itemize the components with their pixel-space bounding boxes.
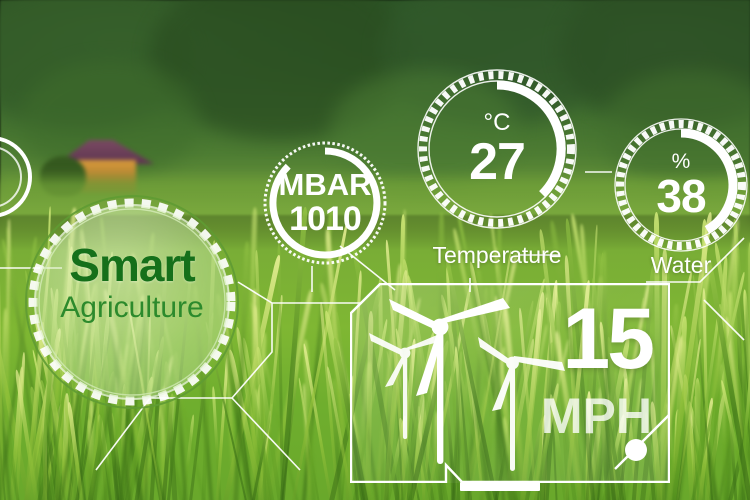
wind-turbine-icon bbox=[369, 333, 442, 439]
brand-badge[interactable]: Smart Agriculture bbox=[22, 192, 242, 412]
gauge-water[interactable]: % 38 bbox=[612, 116, 750, 254]
hud-overlay: Smart Agriculture MBAR 1010 bbox=[0, 0, 750, 500]
gauge-pressure[interactable]: MBAR 1010 bbox=[262, 140, 388, 266]
gauge-water-ring bbox=[612, 116, 750, 254]
brand-line2: Agriculture bbox=[22, 291, 242, 326]
gauge-pressure-ring bbox=[262, 140, 388, 266]
wind-panel-foot-bar bbox=[460, 482, 540, 491]
gauge-water-caption: Water bbox=[612, 252, 750, 279]
gauge-temperature-caption: Temperature bbox=[414, 242, 580, 269]
wind-speed-unit: MPH bbox=[541, 391, 652, 441]
gauge-temperature[interactable]: °C 27 bbox=[414, 66, 580, 232]
gauge-temperature-ring bbox=[414, 66, 580, 232]
wind-speed-panel[interactable]: 15 MPH bbox=[350, 283, 670, 483]
brand-label: Smart Agriculture bbox=[22, 242, 242, 325]
wind-panel-indicator-dot bbox=[625, 439, 647, 461]
brand-line1: Smart bbox=[22, 242, 242, 289]
screenshot-canvas: Smart Agriculture MBAR 1010 bbox=[0, 0, 750, 500]
wind-speed-value: 15 bbox=[562, 301, 652, 378]
